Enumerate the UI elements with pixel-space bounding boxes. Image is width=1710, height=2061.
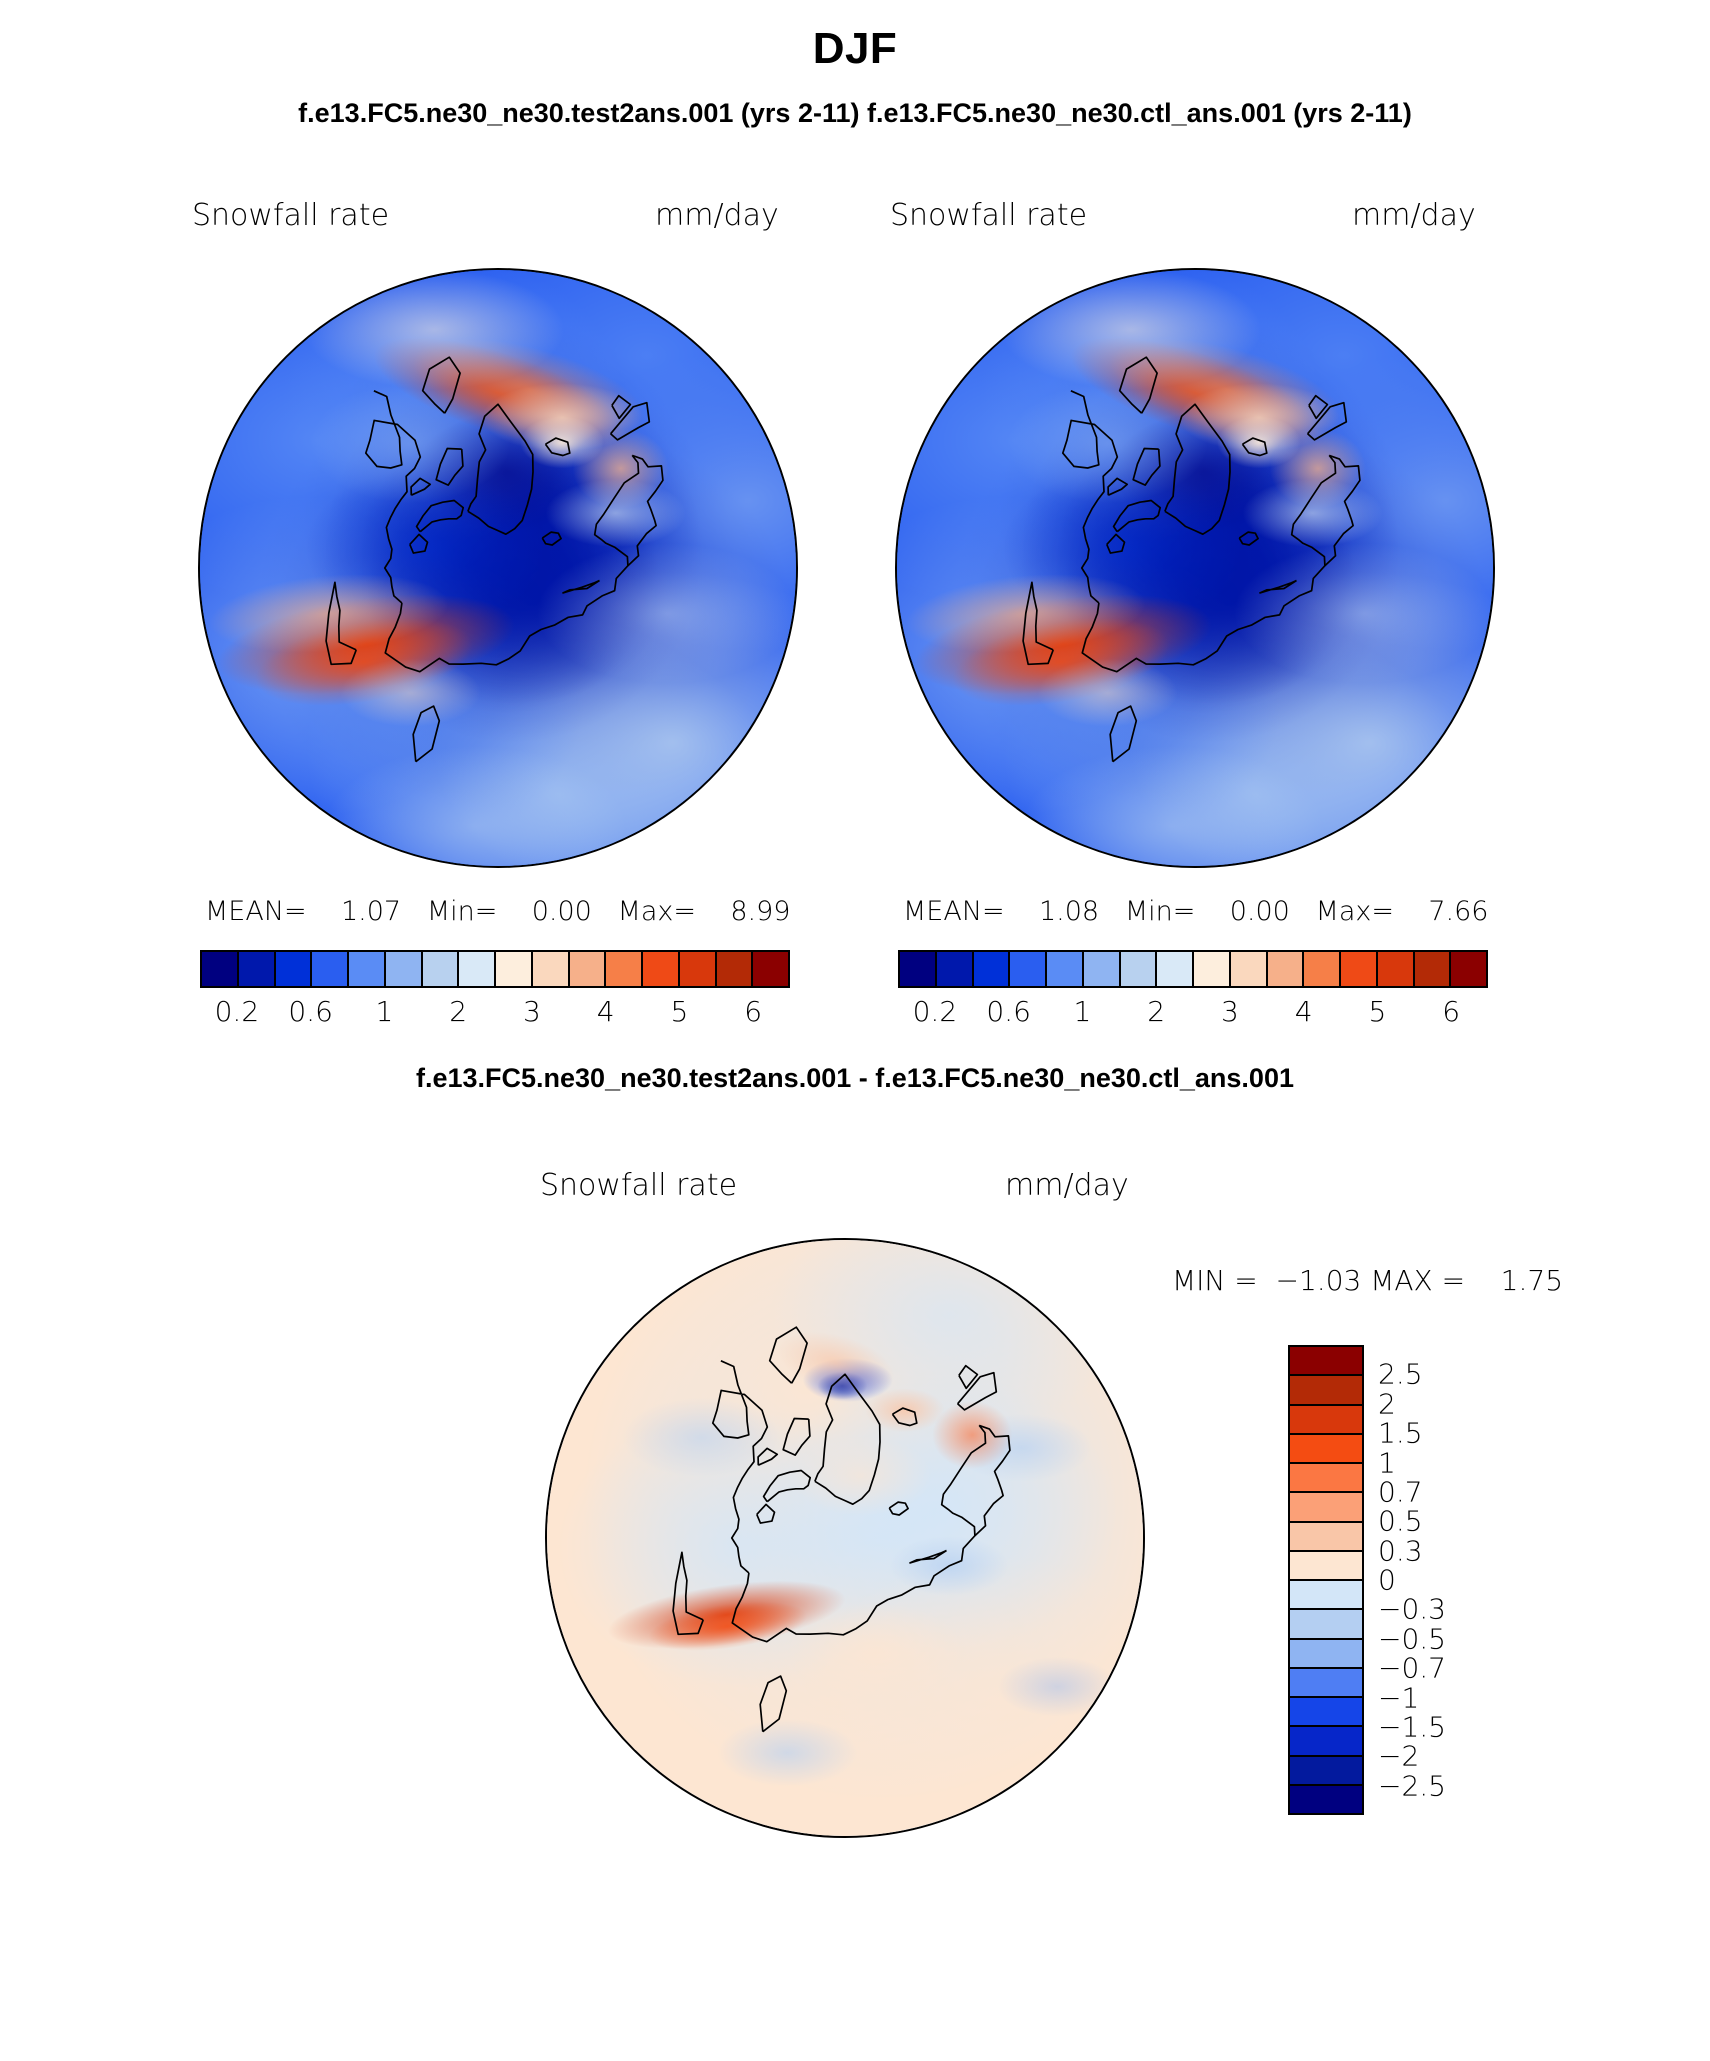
colorbar-swatch [1290,1757,1362,1786]
colorbar-tick-label: 0 [1378,1564,1396,1597]
colorbar-swatch [1290,1786,1362,1813]
colorbar-tick-label: 5 [1368,995,1386,1028]
difference-title: f.e13.FC5.ne30_ne30.test2ans.001 - f.e13… [0,1063,1710,1094]
colorbar-swatch [1194,952,1231,986]
colorbar-test-labels: 0.20.6123456 [200,995,790,1029]
panel-control-variable-label: Snowfall rate [890,198,1087,233]
colorbar-swatch [1290,1406,1362,1435]
colorbar-swatch [1084,952,1121,986]
colorbar-swatch [1290,1581,1362,1610]
colorbar-test[interactable] [200,950,790,988]
colorbar-swatch [276,952,313,986]
colorbar-swatch [1290,1610,1362,1639]
colorbar-tick-label: 0.6 [986,995,1031,1028]
colorbar-swatch [1290,1523,1362,1552]
colorbar-swatch [459,952,496,986]
colorbar-tick-label: 2 [1147,995,1165,1028]
colorbar-swatch [1290,1464,1362,1493]
colorbar-swatch [202,952,239,986]
map-canvas [547,1240,1143,1836]
colorbar-swatch [1451,952,1486,986]
colorbar-swatch [1290,1493,1362,1522]
difference-minmax: MIN = −1.03 MAX = 1.75 [1172,1264,1563,1297]
colorbar-tick-label: 6 [744,995,762,1028]
colorbar-swatch [680,952,717,986]
colorbar-swatch [1010,952,1047,986]
colorbar-control-labels: 0.20.6123456 [898,995,1488,1029]
colorbar-swatch [239,952,276,986]
colorbar-tick-label: 0.2 [913,995,958,1028]
panel-diff-variable-label: Snowfall rate [540,1168,737,1203]
colorbar-swatch [900,952,937,986]
colorbar-swatch [570,952,607,986]
colorbar-tick-label: 3 [523,995,541,1028]
colorbar-tick-label: 4 [1295,995,1313,1028]
map-difference-snowfall[interactable] [545,1238,1145,1838]
panel-test-variable-label: Snowfall rate [192,198,389,233]
panel-control-stats: MEAN= 1.08 Min= 0.00 Max= 7.66 [903,896,1488,927]
colorbar-tick-label: −1 [1378,1681,1419,1714]
colorbar-swatch [1290,1435,1362,1464]
colorbar-tick-label: 0.7 [1378,1475,1423,1508]
colorbar-tick-label: 5 [670,995,688,1028]
colorbar-tick-label: −1.5 [1378,1710,1446,1743]
colorbar-swatch [974,952,1011,986]
colorbar-tick-label: 1 [375,995,393,1028]
map-control-snowfall[interactable] [895,268,1495,868]
colorbar-swatch [386,952,423,986]
map-test-snowfall[interactable] [198,268,798,868]
colorbar-swatch [1268,952,1305,986]
colorbar-swatch [1157,952,1194,986]
colorbar-swatch [1290,1347,1362,1376]
colorbar-swatch [1121,952,1158,986]
colorbar-swatch [937,952,974,986]
colorbar-tick-label: 6 [1442,995,1460,1028]
colorbar-swatch [1290,1698,1362,1727]
colorbar-tick-label: 0.2 [215,995,260,1028]
panel-control-units-label: mm/day [1352,198,1476,233]
colorbar-tick-label: 1 [1378,1446,1396,1479]
colorbar-tick-label: 1 [1073,995,1091,1028]
colorbar-swatch [1290,1669,1362,1698]
colorbar-swatch [753,952,788,986]
case-subtitle: f.e13.FC5.ne30_ne30.test2ans.001 (yrs 2-… [0,98,1710,129]
colorbar-tick-label: 0.5 [1378,1505,1423,1538]
colorbar-tick-label: 2.5 [1378,1358,1423,1391]
colorbar-swatch [1415,952,1452,986]
panel-diff-units-label: mm/day [1005,1168,1129,1203]
colorbar-swatch [533,952,570,986]
colorbar-swatch [1290,1552,1362,1581]
colorbar-tick-label: −2.5 [1378,1769,1446,1802]
colorbar-swatch [349,952,386,986]
colorbar-tick-label: −0.3 [1378,1593,1446,1626]
colorbar-tick-label: 3 [1221,995,1239,1028]
colorbar-tick-label: 1.5 [1378,1417,1423,1450]
colorbar-swatch [717,952,754,986]
panel-test-units-label: mm/day [655,198,779,233]
panel-test-stats: MEAN= 1.07 Min= 0.00 Max= 8.99 [205,896,790,927]
colorbar-tick-label: 2 [449,995,467,1028]
colorbar-tick-label: 0.3 [1378,1534,1423,1567]
colorbar-swatch [423,952,460,986]
colorbar-swatch [1378,952,1415,986]
colorbar-tick-label: −2 [1378,1740,1419,1773]
colorbar-control[interactable] [898,950,1488,988]
colorbar-swatch [643,952,680,986]
season-title: DJF [0,24,1710,74]
colorbar-difference[interactable] [1288,1345,1364,1815]
colorbar-swatch [1231,952,1268,986]
colorbar-swatch [1047,952,1084,986]
colorbar-tick-label: −0.5 [1378,1622,1446,1655]
colorbar-swatch [496,952,533,986]
colorbar-swatch [1290,1727,1362,1756]
colorbar-tick-label: 0.6 [288,995,333,1028]
colorbar-swatch [1290,1640,1362,1669]
colorbar-tick-label: −0.7 [1378,1652,1446,1685]
colorbar-tick-label: 2 [1378,1387,1396,1420]
map-canvas [897,270,1493,866]
colorbar-swatch [312,952,349,986]
colorbar-swatch [1304,952,1341,986]
colorbar-swatch [606,952,643,986]
colorbar-swatch [1341,952,1378,986]
colorbar-tick-label: 4 [597,995,615,1028]
colorbar-swatch [1290,1376,1362,1405]
map-canvas [200,270,796,866]
